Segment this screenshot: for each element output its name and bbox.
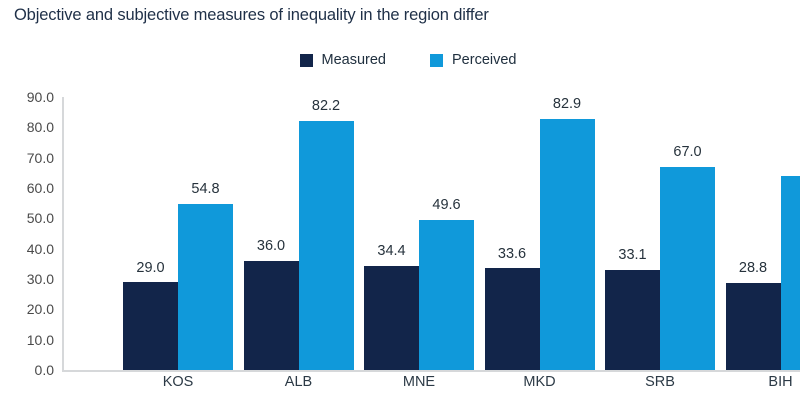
y-axis-tick: 80.0 (27, 119, 54, 135)
y-axis-tick-labels: 90.080.070.060.050.040.030.020.010.00.0 (0, 97, 54, 370)
bar-perceived[interactable] (299, 121, 354, 370)
bar-group-bars: 33.167.0 (605, 97, 715, 370)
plot-area: 29.054.836.082.234.449.633.682.933.167.0… (62, 97, 800, 370)
x-axis-line (62, 370, 800, 372)
x-axis-label-mkd: MKD (523, 374, 555, 390)
y-axis-tick: 20.0 (27, 301, 54, 317)
bar-value-label: 67.0 (673, 145, 701, 160)
bar-perceived[interactable] (781, 176, 800, 370)
x-axis-label-bih: BIH (768, 374, 792, 390)
bar-group-bars: 33.682.9 (485, 97, 595, 370)
bar-perceived[interactable] (660, 167, 715, 370)
x-axis-label-alb: ALB (285, 374, 312, 390)
bar-measured[interactable] (605, 270, 660, 370)
bar-value-label: 82.2 (312, 99, 340, 114)
bar-column: 33.6 (485, 97, 540, 370)
legend-label-perceived: Perceived (452, 52, 516, 68)
bar-perceived[interactable] (178, 204, 233, 370)
bar-group: 36.082.2 (244, 97, 354, 370)
bar-value-label: 28.8 (739, 261, 767, 276)
bar-column: 28.8 (726, 97, 781, 370)
bar-column: 82.9 (540, 97, 595, 370)
bar-group-bars: 34.449.6 (364, 97, 474, 370)
y-axis-tick: 90.0 (27, 89, 54, 105)
y-axis-tick: 50.0 (27, 210, 54, 226)
bar-group-bars: 28.86 (726, 97, 800, 370)
bar-value-label: 33.1 (618, 248, 646, 263)
bar-column: 6 (781, 97, 800, 370)
y-axis-tick: 60.0 (27, 180, 54, 196)
bar-value-label: 34.4 (377, 244, 405, 259)
bar-column: 54.8 (178, 97, 233, 370)
bar-value-label: 54.8 (191, 182, 219, 197)
bar-group: 33.167.0 (605, 97, 715, 370)
y-axis-tick: 30.0 (27, 271, 54, 287)
bar-measured[interactable] (244, 261, 299, 370)
bar-measured[interactable] (364, 266, 419, 370)
x-axis-category-labels: KOSALBMNEMKDSRBBIH (62, 374, 800, 400)
bar-perceived[interactable] (540, 119, 595, 370)
bar-column: 49.6 (419, 97, 474, 370)
bar-value-label: 33.6 (498, 247, 526, 262)
chart-legend: Measured Perceived (0, 52, 800, 68)
legend-swatch-perceived (430, 54, 443, 67)
bar-group: 34.449.6 (364, 97, 474, 370)
legend-item-measured[interactable]: Measured (300, 52, 386, 68)
x-axis-label-srb: SRB (645, 374, 675, 390)
bar-measured[interactable] (726, 283, 781, 370)
bar-group-bars: 36.082.2 (244, 97, 354, 370)
bar-group-bars: 29.054.8 (123, 97, 233, 370)
x-axis-label-kos: KOS (163, 374, 194, 390)
bar-column: 67.0 (660, 97, 715, 370)
legend-item-perceived[interactable]: Perceived (430, 52, 516, 68)
legend-swatch-measured (300, 54, 313, 67)
bar-value-label: 36.0 (257, 239, 285, 254)
page-title: Objective and subjective measures of ine… (14, 6, 489, 25)
bar-column: 29.0 (123, 97, 178, 370)
bar-groups: 29.054.836.082.234.449.633.682.933.167.0… (62, 97, 800, 370)
bar-column: 82.2 (299, 97, 354, 370)
bar-value-label: 49.6 (432, 198, 460, 213)
bar-group: 29.054.8 (123, 97, 233, 370)
bar-value-label: 82.9 (553, 97, 581, 112)
y-axis-tick: 40.0 (27, 241, 54, 257)
y-axis-tick: 10.0 (27, 332, 54, 348)
legend-label-measured: Measured (322, 52, 386, 68)
y-axis-tick: 0.0 (35, 362, 54, 378)
bar-group: 33.682.9 (485, 97, 595, 370)
bar-column: 34.4 (364, 97, 419, 370)
bar-column: 33.1 (605, 97, 660, 370)
bar-measured[interactable] (485, 268, 540, 370)
bar-measured[interactable] (123, 282, 178, 370)
chart-figure: Objective and subjective measures of ine… (0, 0, 800, 420)
bar-value-label: 29.0 (136, 261, 164, 276)
y-axis-tick: 70.0 (27, 150, 54, 166)
x-axis-label-mne: MNE (403, 374, 435, 390)
bar-group: 28.86 (726, 97, 800, 370)
bar-column: 36.0 (244, 97, 299, 370)
bar-perceived[interactable] (419, 220, 474, 370)
